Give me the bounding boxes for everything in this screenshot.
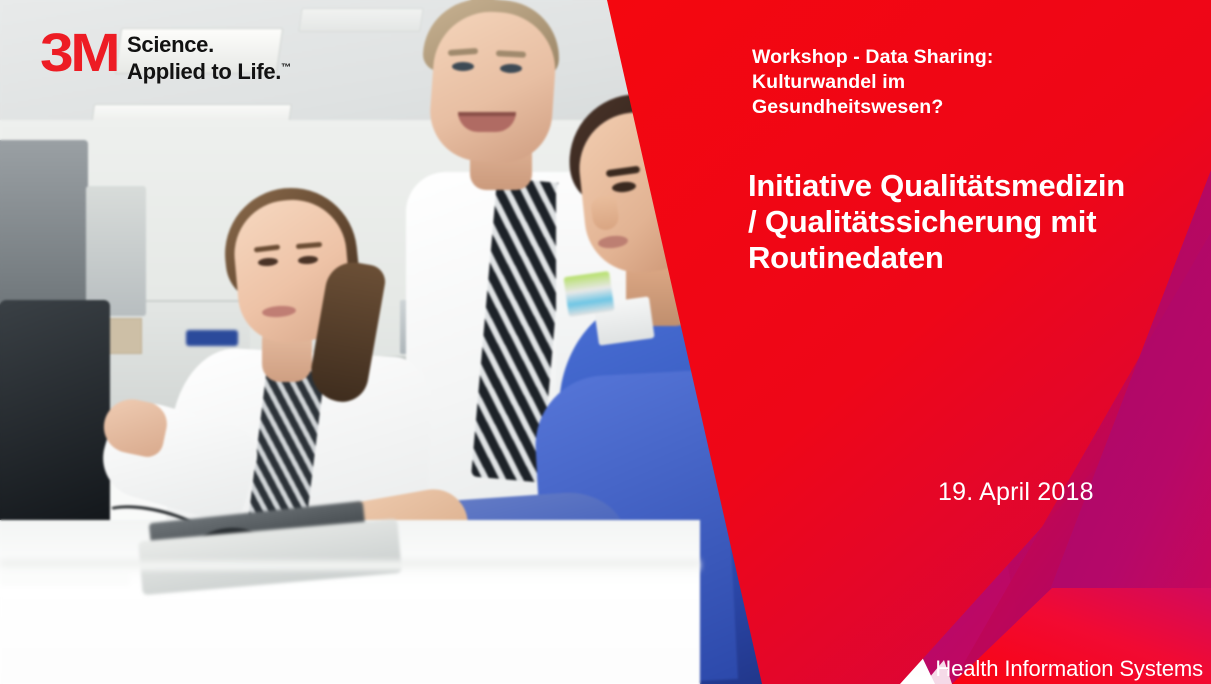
title-line-2: / Qualitätssicherung mit: [748, 204, 1203, 240]
title-line-3: Routinedaten: [748, 240, 1203, 276]
page-title: Initiative Qualitätsmedizin / Qualitätss…: [748, 168, 1203, 276]
trademark-symbol: ™: [281, 63, 291, 74]
eyebrow-line-3: Gesundheitswesen?: [752, 95, 1192, 120]
brand-tagline: Science. Applied to Life.™: [127, 28, 291, 86]
title-line-1: Initiative Qualitätsmedizin: [748, 168, 1203, 204]
division-footer: Health Information Systems: [935, 656, 1203, 682]
eyebrow-line-1: Workshop - Data Sharing:: [752, 45, 1192, 70]
brand-logo: 3M Science. Applied to Life.™: [40, 28, 291, 86]
tagline-line-2: Applied to Life.™: [127, 59, 291, 86]
tagline-line-1: Science.: [127, 32, 291, 59]
workshop-eyebrow: Workshop - Data Sharing: Kulturwandel im…: [752, 45, 1192, 120]
tagline-line-2-text: Applied to Life.: [127, 59, 281, 84]
3m-logo-mark: 3M: [40, 28, 117, 79]
event-date: 19. April 2018: [938, 478, 1094, 507]
eyebrow-line-2: Kulturwandel im: [752, 70, 1192, 95]
title-slide: 3M Science. Applied to Life.™ Workshop -…: [0, 0, 1211, 684]
